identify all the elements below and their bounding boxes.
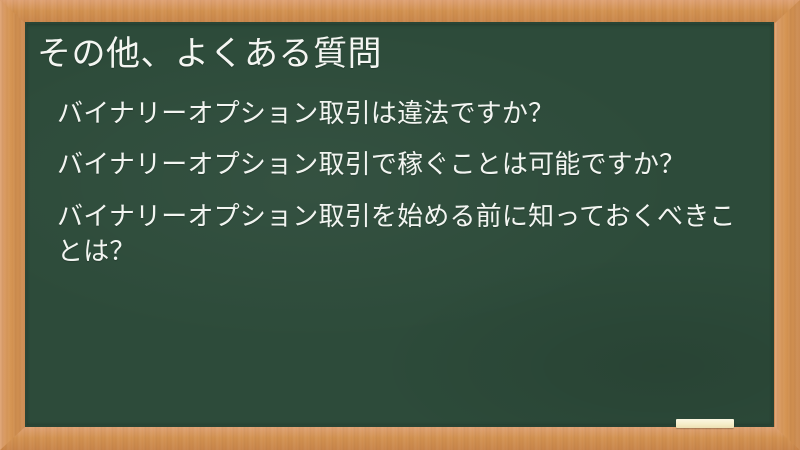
frame-rail-left [0,0,25,450]
chalkboard-slide: その他、よくある質問 バイナリーオプション取引は違法ですか？ バイナリーオプショ… [0,0,800,450]
frame-rail-right [775,0,800,450]
list-item: バイナリーオプション取引で稼ぐことは可能ですか？ [57,148,747,183]
slide-content: その他、よくある質問 バイナリーオプション取引は違法ですか？ バイナリーオプショ… [25,22,774,427]
chalk-stick-icon [676,419,734,428]
page-title: その他、よくある質問 [37,34,748,75]
list-item: バイナリーオプション取引は違法ですか？ [57,97,747,132]
frame-rail-top [0,0,800,23]
faq-list: バイナリーオプション取引は違法ですか？ バイナリーオプション取引で稼ぐことは可能… [37,97,748,270]
list-item: バイナリーオプション取引を始める前に知っておくべきことは？ [57,200,747,271]
frame-rail-bottom [0,427,800,450]
chalkboard-surface: その他、よくある質問 バイナリーオプション取引は違法ですか？ バイナリーオプショ… [25,22,774,427]
